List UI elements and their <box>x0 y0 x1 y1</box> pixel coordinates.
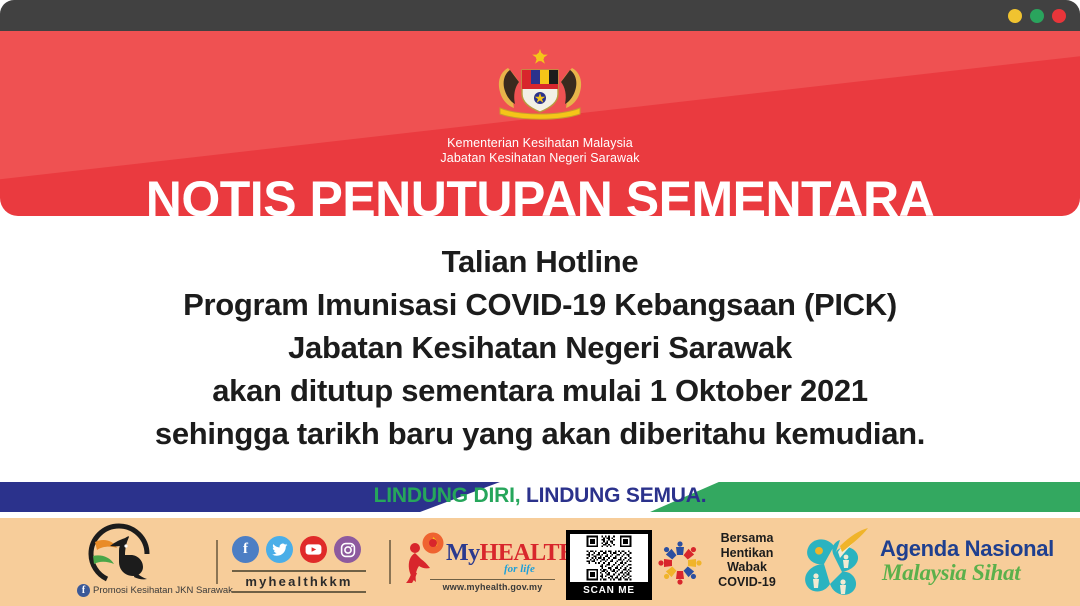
malaysia-coat-of-arms-icon <box>480 46 600 122</box>
myhealth-figure-icon <box>400 532 452 584</box>
bersama-hentikan-wabak-group: Bersama Hentikan Wabak COVID-19 <box>655 528 785 600</box>
twitter-bird-glyph <box>272 543 288 557</box>
social-icon-row: f <box>232 536 382 563</box>
slogan-part-1: LINDUNG DIRI, <box>374 484 521 507</box>
agenda-line-1: Agenda Nasional <box>880 536 1054 562</box>
hornbill-logo-icon <box>77 522 161 584</box>
twitter-icon[interactable] <box>266 536 293 563</box>
message-line: Jabatan Kesihatan Negeri Sarawak <box>0 326 1080 369</box>
facebook-icon[interactable]: f <box>232 536 259 563</box>
qr-code-group[interactable]: SCAN ME <box>566 530 652 600</box>
ministry-line-2: Jabatan Kesihatan Negeri Sarawak <box>0 151 1080 166</box>
bersama-line-1: Bersama <box>707 531 787 546</box>
window-title-bar <box>0 0 1080 31</box>
footer-separator <box>216 540 218 584</box>
social-handle: myhealthkkm <box>232 570 366 593</box>
bersama-line-4: COVID-19 <box>707 575 787 590</box>
minimize-button[interactable] <box>1008 9 1022 23</box>
bersama-line-3: Wabak <box>707 560 787 575</box>
instagram-camera-glyph <box>340 542 356 558</box>
youtube-icon[interactable] <box>300 536 327 563</box>
message-line: sehingga tarikh baru yang akan diberitah… <box>0 412 1080 455</box>
myhealth-url: www.myhealth.gov.my <box>430 579 555 592</box>
qr-scan-label: SCAN ME <box>570 582 648 600</box>
message-line: Talian Hotline <box>0 240 1080 283</box>
poster-header-band: Kementerian Kesihatan Malaysia Jabatan K… <box>0 24 1080 216</box>
bersama-line-2: Hentikan <box>707 546 787 561</box>
footer-separator <box>389 540 391 584</box>
agenda-nasional-logo-group: Agenda Nasional Malaysia Sihat <box>790 524 1060 602</box>
ministry-identification: Kementerian Kesihatan Malaysia Jabatan K… <box>0 136 1080 166</box>
slogan-band: LINDUNG DIRI, LINDUNG SEMUA. <box>0 476 1080 518</box>
people-burst-icon <box>655 538 705 588</box>
social-media-group: f myhealthkkm <box>232 536 382 596</box>
facebook-badge-icon[interactable]: f <box>77 584 90 597</box>
closure-notice-poster: Kementerian Kesihatan Malaysia Jabatan K… <box>0 0 1080 606</box>
slogan-part-2: LINDUNG SEMUA. <box>520 484 706 507</box>
jkn-sarawak-logo-group: f Promosi Kesihatan JKN Sarawak <box>55 522 215 602</box>
qr-code-image <box>570 534 648 582</box>
instagram-icon[interactable] <box>334 536 361 563</box>
bersama-text-block: Bersama Hentikan Wabak COVID-19 <box>707 531 787 589</box>
ministry-line-1: Kementerian Kesihatan Malaysia <box>0 136 1080 151</box>
poster-title: NOTIS PENUTUPAN SEMENTARA <box>0 170 1080 216</box>
agenda-line-2: Malaysia Sihat <box>882 560 1020 586</box>
hibiscus-icon <box>794 526 880 600</box>
notice-message-block: Talian Hotline Program Imunisasi COVID-1… <box>0 240 1080 455</box>
facebook-glyph: f <box>243 541 248 558</box>
myhealth-logo-group: MyHEALTH for life www.myhealth.gov.my <box>400 532 560 598</box>
window-controls <box>1008 9 1066 23</box>
maximize-button[interactable] <box>1030 9 1044 23</box>
myhealth-word-my: My <box>446 540 480 566</box>
message-line: akan ditutup sementara mulai 1 Oktober 2… <box>0 369 1080 412</box>
close-button[interactable] <box>1052 9 1066 23</box>
slogan-text: LINDUNG DIRI, LINDUNG SEMUA. <box>0 484 1080 508</box>
jkn-caption: Promosi Kesihatan JKN Sarawak <box>93 584 233 597</box>
youtube-play-glyph <box>305 543 322 556</box>
message-line: Program Imunisasi COVID-19 Kebangsaan (P… <box>0 283 1080 326</box>
myhealth-tagline: for life <box>504 563 535 575</box>
